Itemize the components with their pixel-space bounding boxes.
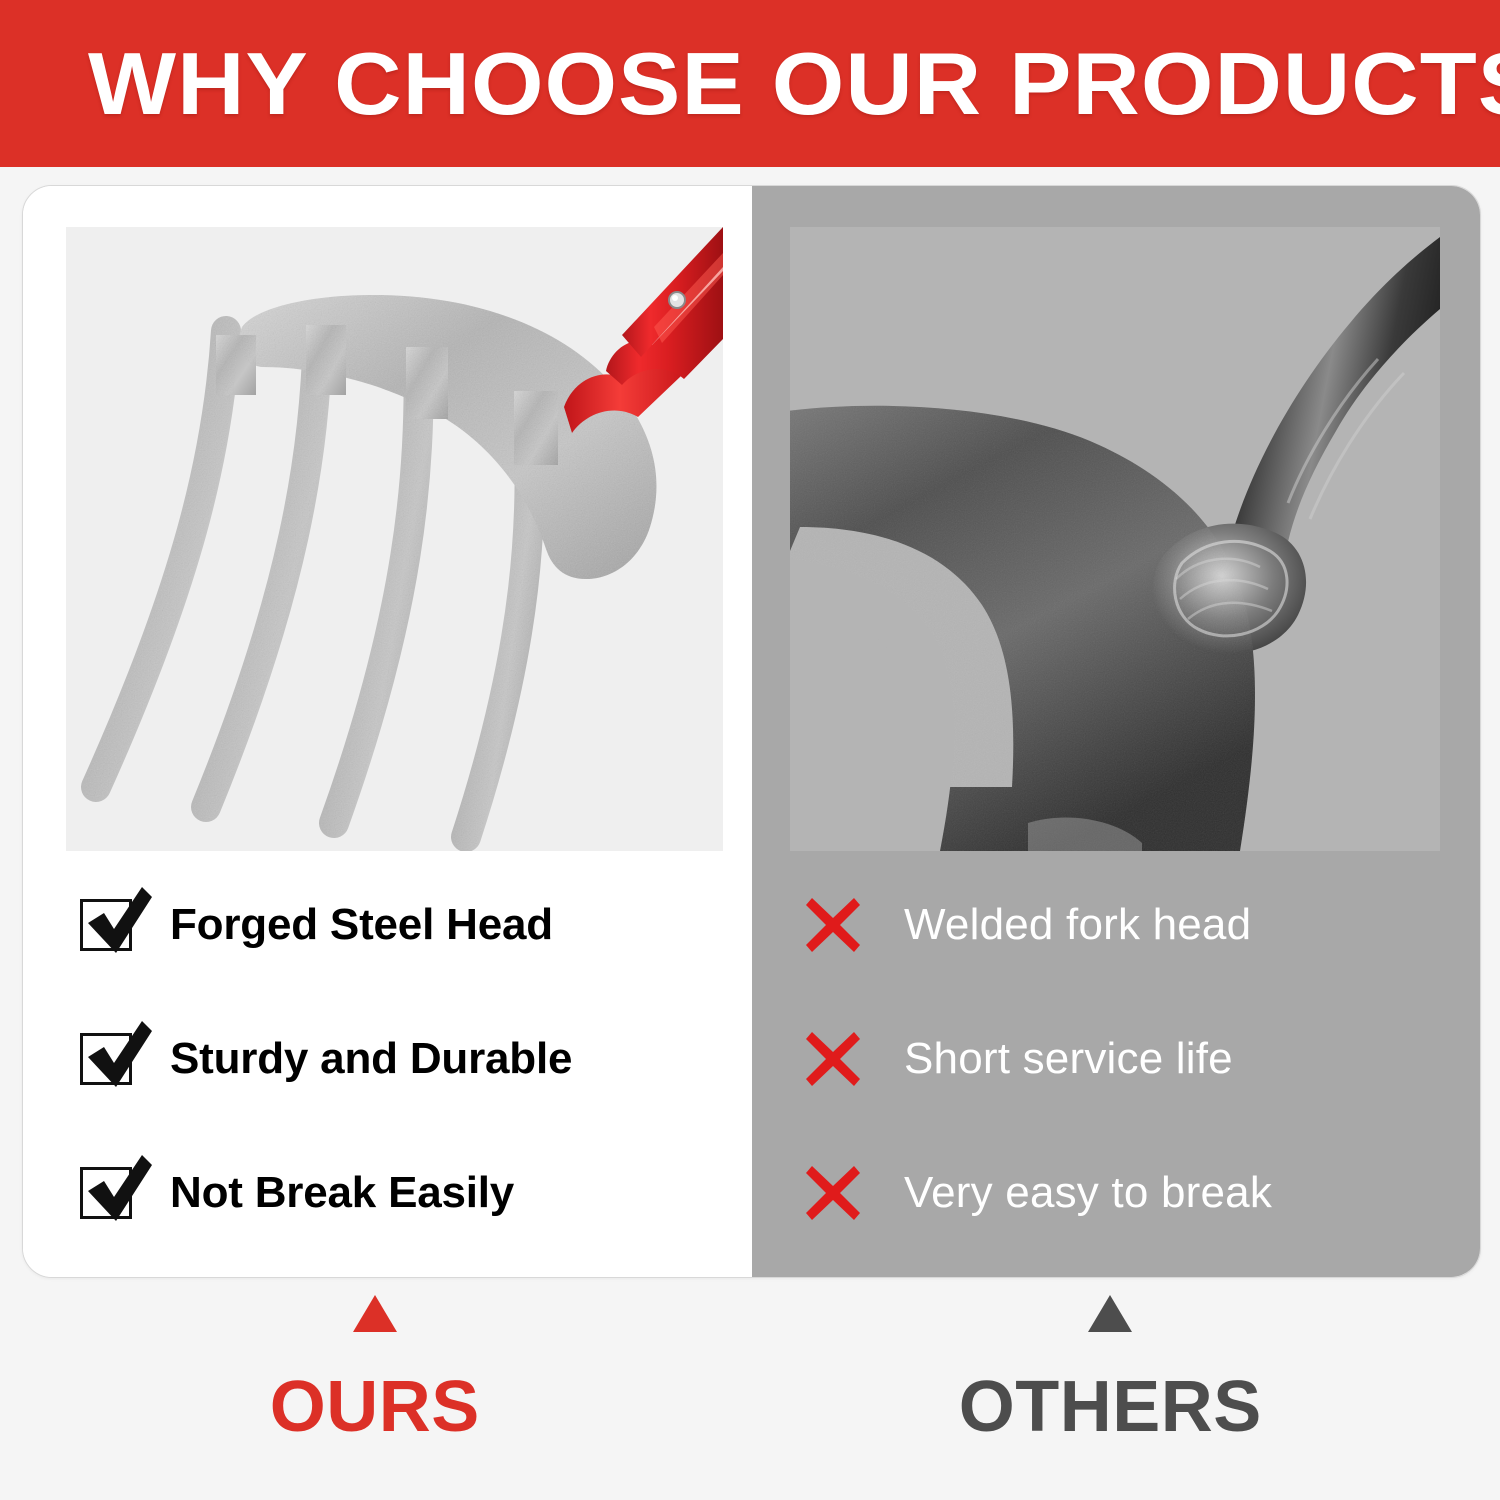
footer-label-ours: OURS bbox=[270, 1366, 480, 1448]
product-photo-others bbox=[790, 227, 1440, 851]
comparison-card: Forged Steel Head Sturdy and Durable bbox=[22, 185, 1481, 1278]
triangle-up-icon bbox=[353, 1295, 397, 1332]
footer-label-others: OTHERS bbox=[959, 1366, 1262, 1448]
page-title: WHY CHOOSE OUR PRODUCTS? bbox=[88, 33, 1500, 135]
feature-list-ours: Forged Steel Head Sturdy and Durable bbox=[23, 858, 752, 1260]
list-item: Short service life bbox=[752, 992, 1480, 1126]
list-item: Very easy to break bbox=[752, 1126, 1480, 1260]
cross-mark-icon bbox=[802, 894, 864, 956]
feature-list-others: Welded fork head Short service life bbox=[752, 858, 1480, 1260]
footer-labels: OURS OTHERS bbox=[22, 1295, 1481, 1500]
checkbox-checked-icon bbox=[80, 899, 132, 951]
footer-ours: OURS bbox=[10, 1295, 740, 1500]
feature-label: Short service life bbox=[904, 1034, 1233, 1084]
header-banner: WHY CHOOSE OUR PRODUCTS? bbox=[0, 0, 1500, 167]
feature-label: Welded fork head bbox=[904, 900, 1251, 950]
triangle-up-icon bbox=[1088, 1295, 1132, 1332]
feature-label: Very easy to break bbox=[904, 1168, 1272, 1218]
comparison-infographic: WHY CHOOSE OUR PRODUCTS? bbox=[0, 0, 1500, 1500]
forged-fork-illustration bbox=[66, 227, 723, 851]
list-item: Welded fork head bbox=[752, 858, 1480, 992]
feature-label: Sturdy and Durable bbox=[170, 1034, 572, 1084]
checkbox-checked-icon bbox=[80, 1033, 132, 1085]
footer-others: OTHERS bbox=[746, 1295, 1476, 1500]
list-item: Not Break Easily bbox=[23, 1126, 752, 1260]
list-item: Sturdy and Durable bbox=[23, 992, 752, 1126]
panel-ours: Forged Steel Head Sturdy and Durable bbox=[23, 186, 752, 1277]
list-item: Forged Steel Head bbox=[23, 858, 752, 992]
panel-others: Welded fork head Short service life bbox=[752, 186, 1480, 1277]
cross-mark-icon bbox=[802, 1028, 864, 1090]
cross-mark-icon bbox=[802, 1162, 864, 1224]
feature-label: Not Break Easily bbox=[170, 1168, 514, 1218]
product-photo-ours bbox=[66, 227, 723, 851]
checkbox-checked-icon bbox=[80, 1167, 132, 1219]
feature-label: Forged Steel Head bbox=[170, 900, 553, 950]
